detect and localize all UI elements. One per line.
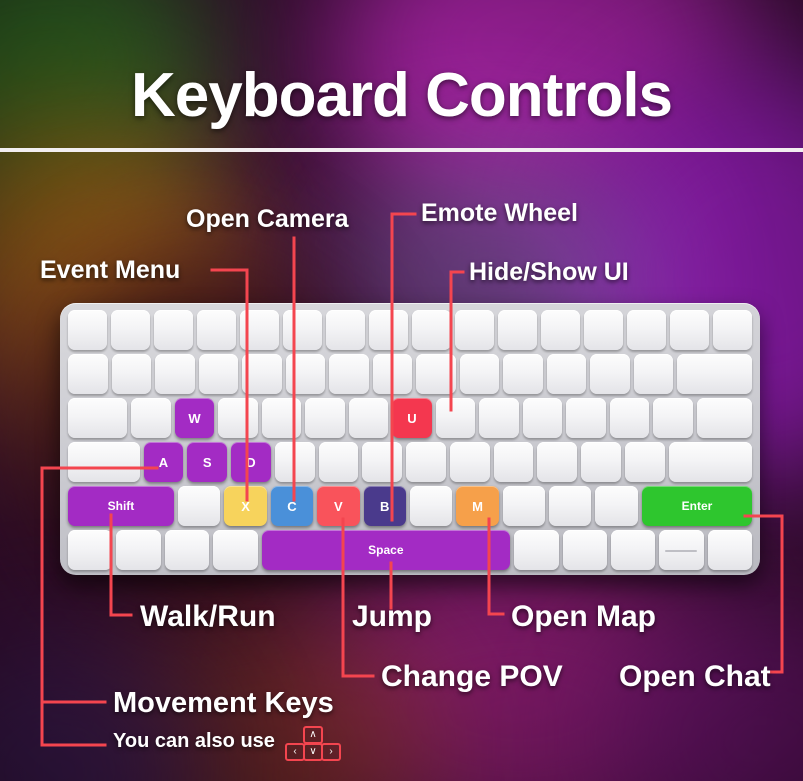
key-blank[interactable] [610, 398, 650, 438]
key-blank[interactable] [68, 442, 140, 482]
key-blank[interactable] [566, 398, 606, 438]
key-blank[interactable] [369, 310, 408, 350]
key-blank[interactable] [68, 310, 107, 350]
key-label: M [472, 499, 483, 514]
callout-change-pov: Change POV [381, 662, 563, 692]
key-blank[interactable] [240, 310, 279, 350]
key-blank[interactable] [611, 530, 655, 570]
key-blank[interactable] [547, 354, 587, 394]
key-a[interactable]: A [144, 442, 184, 482]
key-blank[interactable] [116, 530, 160, 570]
key-blank[interactable] [677, 354, 752, 394]
arrow-down-icon: ∨ [303, 743, 323, 761]
key-label: X [241, 499, 250, 514]
key-blank[interactable] [112, 354, 152, 394]
callout-event-menu: Event Menu [40, 258, 180, 283]
key-blank[interactable] [155, 354, 195, 394]
callout-emote-wheel: Emote Wheel [421, 201, 578, 226]
key-blank[interactable] [329, 354, 369, 394]
key-w[interactable]: W [175, 398, 215, 438]
key-blank[interactable] [713, 310, 752, 350]
key-blank[interactable] [494, 442, 534, 482]
key-blank[interactable] [410, 486, 452, 526]
key-blank[interactable] [595, 486, 637, 526]
key-blank[interactable] [563, 530, 607, 570]
title-band: Keyboard Controls [0, 0, 803, 150]
key-blank[interactable] [460, 354, 500, 394]
key-blank[interactable] [625, 442, 665, 482]
key-blank[interactable] [68, 398, 127, 438]
arrow-up-icon: ∧ [303, 726, 323, 744]
key-blank[interactable] [165, 530, 209, 570]
callout-open-map: Open Map [511, 602, 656, 632]
key-blank[interactable] [590, 354, 630, 394]
key-blank[interactable] [455, 310, 494, 350]
key-blank[interactable] [479, 398, 519, 438]
key-blank[interactable] [373, 354, 413, 394]
key-blank[interactable] [634, 354, 674, 394]
key-blank[interactable] [412, 310, 451, 350]
key-u[interactable]: U [392, 398, 432, 438]
key-blank[interactable] [537, 442, 577, 482]
key-m[interactable]: M [456, 486, 498, 526]
key-blank[interactable] [362, 442, 402, 482]
arrow-right-icon: › [321, 743, 341, 761]
key-blank[interactable] [584, 310, 623, 350]
key-blank[interactable] [669, 442, 752, 482]
key-c[interactable]: C [271, 486, 313, 526]
key-blank[interactable] [697, 398, 752, 438]
key-b[interactable]: B [364, 486, 406, 526]
key-blank[interactable] [199, 354, 239, 394]
key-blank[interactable] [178, 486, 220, 526]
title-divider [0, 148, 803, 152]
key-d[interactable]: D [231, 442, 271, 482]
key-blank[interactable] [436, 398, 476, 438]
alt-hint-text: You can also use [113, 731, 275, 751]
key-blank[interactable] [242, 354, 282, 394]
key-blank[interactable] [154, 310, 193, 350]
key-label: B [380, 499, 389, 514]
arrow-keys-hint: ∧ ‹ ∨ › [285, 726, 339, 760]
callout-jump: Jump [352, 602, 432, 632]
key-blank[interactable] [498, 310, 537, 350]
key-blank[interactable] [68, 354, 108, 394]
key-x[interactable]: X [224, 486, 266, 526]
row-function [68, 310, 752, 350]
key-blank[interactable] [659, 530, 703, 570]
callout-hide-show-ui: Hide/Show UI [469, 260, 629, 285]
key-blank[interactable] [68, 530, 112, 570]
row-qwerty: WU [68, 398, 752, 438]
key-label: Enter [682, 499, 713, 513]
key-blank[interactable] [406, 442, 446, 482]
key-blank[interactable] [218, 398, 258, 438]
row-zxcv: ShiftXCVBMEnter [68, 486, 752, 526]
row-asdf: ASD [68, 442, 752, 482]
key-blank[interactable] [213, 530, 257, 570]
callout-movement-keys: Movement Keys [113, 689, 334, 718]
key-label: U [407, 411, 416, 426]
key-label: S [203, 455, 212, 470]
key-blank[interactable] [581, 442, 621, 482]
key-blank[interactable] [708, 530, 752, 570]
key-blank[interactable] [349, 398, 389, 438]
key-label: V [334, 499, 343, 514]
key-shift[interactable]: Shift [68, 486, 174, 526]
key-space[interactable]: Space [262, 530, 511, 570]
key-blank[interactable] [523, 398, 563, 438]
key-blank[interactable] [503, 354, 543, 394]
key-label: W [188, 411, 200, 426]
key-blank[interactable] [319, 442, 359, 482]
key-blank[interactable] [549, 486, 591, 526]
key-blank[interactable] [283, 310, 322, 350]
key-label: D [246, 455, 255, 470]
key-s[interactable]: S [187, 442, 227, 482]
key-label: A [159, 455, 168, 470]
row-bottom: Space [68, 530, 752, 570]
key-blank[interactable] [541, 310, 580, 350]
key-blank[interactable] [670, 310, 709, 350]
row-number [68, 354, 752, 394]
callout-open-camera: Open Camera [186, 207, 349, 232]
key-blank[interactable] [450, 442, 490, 482]
key-label: Space [368, 543, 403, 557]
key-blank[interactable] [286, 354, 326, 394]
key-blank[interactable] [305, 398, 345, 438]
page-title: Keyboard Controls [0, 60, 803, 131]
key-blank[interactable] [653, 398, 693, 438]
key-blank[interactable] [326, 310, 365, 350]
keyboard[interactable]: WUASDShiftXCVBMEnterSpace [60, 303, 760, 575]
callout-walk-run: Walk/Run [140, 602, 276, 632]
arrow-left-icon: ‹ [285, 743, 305, 761]
key-label: Shift [108, 499, 135, 513]
key-v[interactable]: V [317, 486, 359, 526]
key-blank[interactable] [503, 486, 545, 526]
key-blank[interactable] [514, 530, 558, 570]
key-label: C [287, 499, 296, 514]
callout-open-chat: Open Chat [619, 662, 771, 692]
key-blank[interactable] [111, 310, 150, 350]
key-blank[interactable] [262, 398, 302, 438]
key-enter[interactable]: Enter [642, 486, 752, 526]
key-blank[interactable] [197, 310, 236, 350]
key-blank[interactable] [131, 398, 171, 438]
key-blank[interactable] [275, 442, 315, 482]
key-blank[interactable] [627, 310, 666, 350]
key-blank[interactable] [416, 354, 456, 394]
